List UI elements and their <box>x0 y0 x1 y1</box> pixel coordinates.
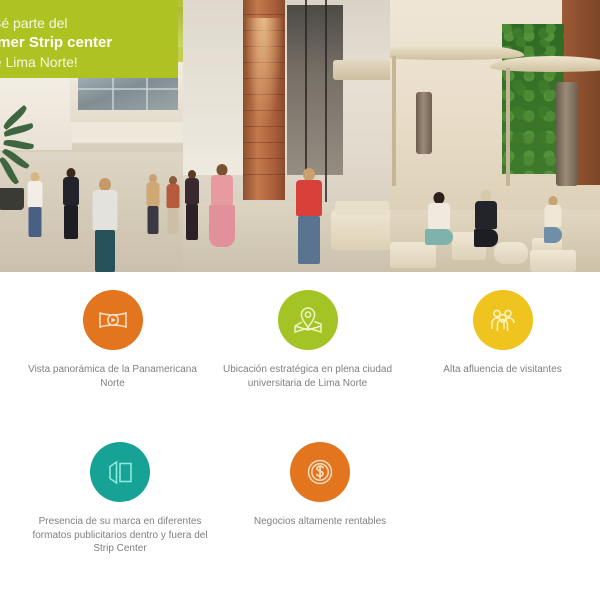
banner-line-1: Sé parte del <box>0 14 168 33</box>
person <box>90 178 120 272</box>
patio-heater <box>416 92 432 154</box>
hero-banner: Sé parte del primer Strip center de Lima… <box>0 0 178 78</box>
feature-presencia-marca: Presencia de su marca en diferentes form… <box>20 442 220 556</box>
person <box>293 168 325 268</box>
feature-negocios-rentables: Negocios altamente rentables <box>220 442 420 556</box>
feature-caption: Ubicación estratégica en plena ciudad un… <box>218 363 398 390</box>
feature-alta-afluencia: Alta afluencia de visitantes <box>405 290 600 390</box>
lounge-sofa <box>331 210 390 250</box>
feature-ubicacion-estrategica: Ubicación estratégica en plena ciudad un… <box>210 290 405 390</box>
features-section: Construcción moderna y sostenible Vista … <box>0 272 600 600</box>
hero-panel-outdoor-lounge <box>390 0 600 272</box>
person-seated <box>424 192 454 252</box>
feature-caption: Presencia de su marca en diferentes form… <box>30 515 210 556</box>
glass-doors <box>287 5 343 175</box>
person <box>60 168 82 246</box>
banner-line-3: de Lima Norte! <box>0 53 168 72</box>
wall <box>183 0 245 175</box>
map-pin-icon <box>278 290 338 350</box>
person <box>183 170 201 250</box>
person <box>24 172 46 246</box>
people-group-icon <box>473 290 533 350</box>
person <box>144 174 162 240</box>
feature-caption: Negocios altamente rentables <box>230 515 410 529</box>
features-row-2: Participación de marcas líderes Presenci… <box>0 442 600 556</box>
canopy <box>333 60 390 80</box>
billboard-panels-icon <box>90 442 150 502</box>
column-spotlight <box>245 18 283 128</box>
lounge-seat <box>530 250 576 272</box>
hero-panel-brick-column <box>183 0 390 272</box>
slide-root: Sé parte del primer Strip center de Lima… <box>0 0 600 600</box>
feature-caption: Alta afluencia de visitantes <box>413 363 593 377</box>
feature-caption: Participación de marcas líderes <box>0 515 10 529</box>
person-seated <box>542 196 564 250</box>
feature-caption: Construcción moderna y sostenible <box>0 363 8 377</box>
panoramic-video-icon <box>83 290 143 350</box>
patio-heater <box>556 82 578 186</box>
feature-vista-panoramica: Vista panorámica de la Panamericana Nort… <box>15 290 210 390</box>
banner-line-2: primer Strip center <box>0 33 168 53</box>
feature-construccion-moderna: Construcción moderna y sostenible <box>0 290 15 390</box>
feature-marcas-lideres: Participación de marcas líderes <box>0 442 20 556</box>
dollar-coin-icon <box>290 442 350 502</box>
features-row-1: Construcción moderna y sostenible Vista … <box>0 290 600 390</box>
person <box>164 176 182 240</box>
person-seated <box>472 190 500 252</box>
feature-caption: Vista panorámica de la Panamericana Nort… <box>23 363 203 390</box>
green-wall <box>502 24 564 174</box>
person <box>207 164 237 254</box>
